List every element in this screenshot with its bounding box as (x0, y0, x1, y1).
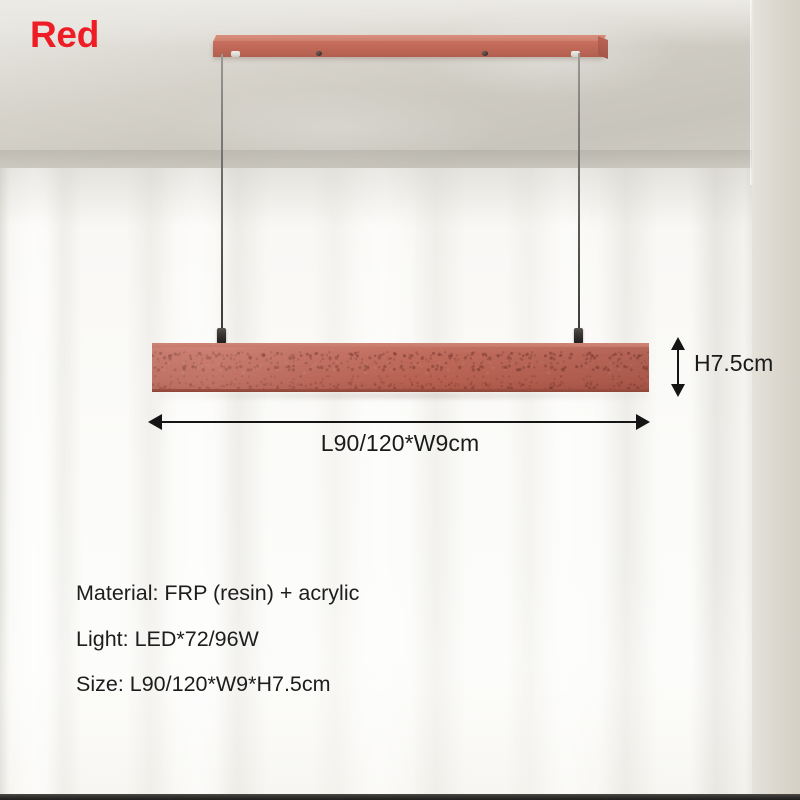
height-arrow-down-icon (671, 384, 685, 397)
lamp-surface-sheen (152, 347, 649, 392)
lamp-front-face (152, 347, 649, 392)
lamp-drop-shadow (158, 391, 648, 400)
ceiling-canopy-plate (213, 35, 603, 57)
spec-size: Size: L90/120*W9*H7.5cm (76, 674, 676, 696)
product-image-canvas: L90/120*W9cm H7.5cm Red Material: FRP (r… (0, 0, 800, 800)
canopy-screw-1 (316, 51, 322, 56)
spec-light: Light: LED*72/96W (76, 629, 676, 651)
canopy-cable-anchor-left (231, 51, 240, 57)
width-arrow-right-icon (636, 414, 650, 430)
spec-material: Material: FRP (resin) + acrylic (76, 583, 676, 605)
specification-list: Material: FRP (resin) + acrylic Light: L… (76, 583, 676, 696)
color-variant-label: Red (30, 14, 99, 56)
canopy-right-endcap (598, 36, 608, 59)
wall-corner-edge (750, 0, 753, 185)
canopy-front-face (213, 41, 603, 57)
curtain-light-falloff (0, 168, 760, 800)
suspension-cable-right (578, 53, 580, 334)
curtain-backdrop (0, 168, 760, 800)
width-dimension-label: L90/120*W9cm (152, 430, 648, 457)
lamp-bottom-edge (152, 389, 649, 392)
right-wall-panel (752, 0, 800, 800)
canopy-screw-2 (482, 51, 488, 56)
floor-baseline (0, 794, 800, 800)
width-dimension-line (152, 421, 648, 423)
height-dimension-label: H7.5cm (694, 350, 773, 377)
linear-pendant-lamp-body (152, 343, 649, 392)
suspension-cable-left (221, 54, 223, 334)
